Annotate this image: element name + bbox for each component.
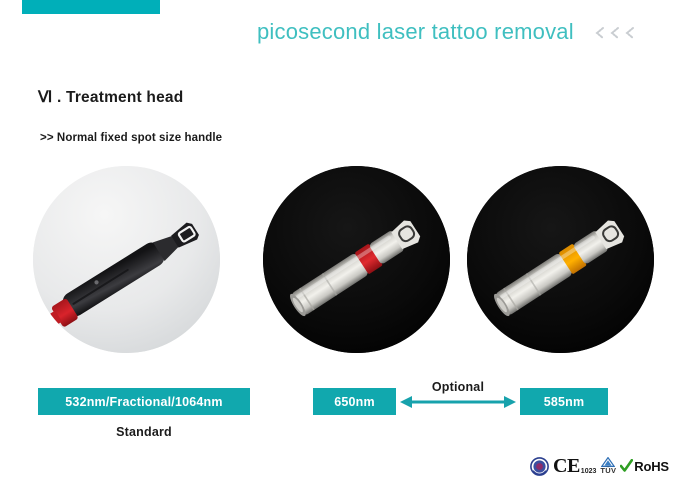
ce-mark-label: CE [553,456,580,476]
rohs-mark-label: RoHS [634,460,669,473]
iso-seal-icon [530,457,549,476]
badge-585nm[interactable]: 585nm [520,388,608,415]
certification-marks: CE 1023 TÜV RoHS [530,454,669,478]
ce-mark: CE 1023 [553,456,596,476]
green-check-icon [620,459,633,473]
badge-standard-wavelengths[interactable]: 532nm/Fractional/1064nm [38,388,250,415]
product-image-standard-handpiece [33,166,220,353]
header-accent-bar [22,0,160,14]
section-subheading: >> Normal fixed spot size handle [40,132,222,144]
double-arrow-horizontal-icon [400,394,516,410]
tuv-mark: TÜV [600,457,616,475]
section-heading: Ⅵ . Treatment head [38,88,183,107]
optional-label: Optional [396,380,520,394]
caption-standard: Standard [38,425,250,439]
product-image-handpiece-650nm [263,166,450,353]
product-image-handpiece-585nm [467,166,654,353]
tuv-mark-label: TÜV [600,467,616,475]
badge-650nm[interactable]: 650nm [313,388,396,415]
slide-canvas: picosecond laser tattoo removal Ⅵ . Trea… [0,0,700,485]
page-title: picosecond laser tattoo removal [257,19,574,45]
chevron-left-triple-icon [594,25,637,41]
ce-mark-number: 1023 [581,468,597,475]
rohs-mark: RoHS [620,459,669,473]
